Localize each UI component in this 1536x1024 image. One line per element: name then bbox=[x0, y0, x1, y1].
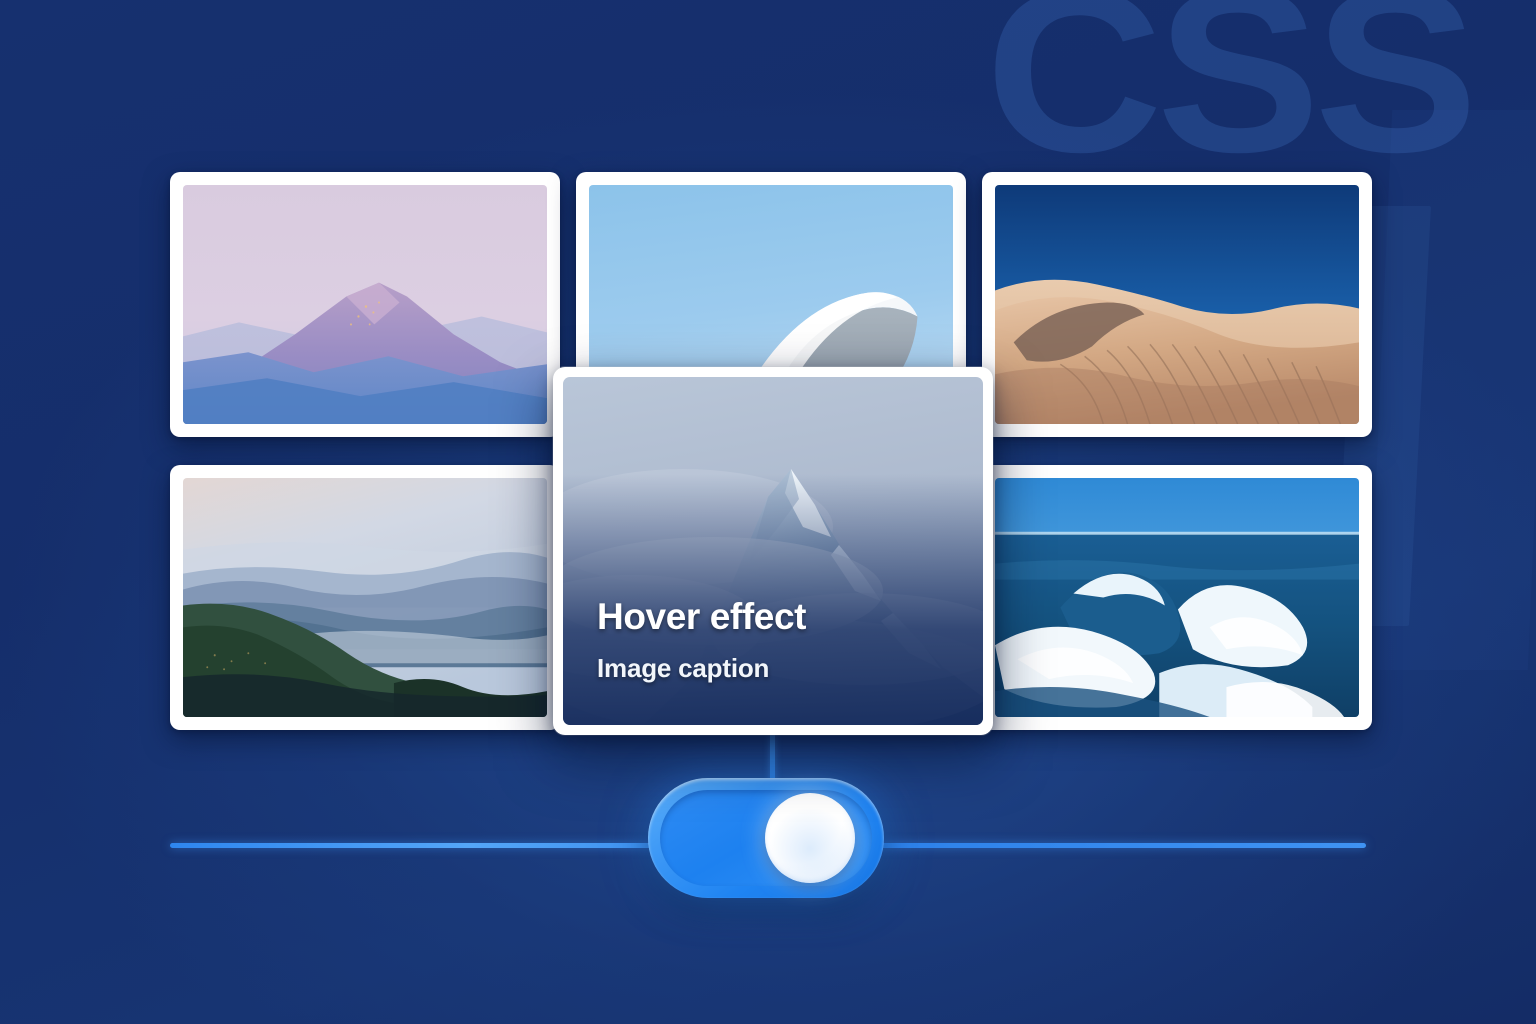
hovered-card-caption: Image caption bbox=[597, 655, 983, 681]
thumbnail-sunrise-mountain bbox=[183, 185, 547, 424]
hover-effect-toggle[interactable] bbox=[648, 778, 884, 898]
hovered-gallery-card[interactable]: Hover effect Image caption bbox=[553, 367, 993, 735]
gallery-card-sunrise-mountain[interactable] bbox=[170, 172, 560, 437]
gallery-card-desert-dunes[interactable] bbox=[982, 172, 1372, 437]
hovered-card-overlay: Hover effect Image caption bbox=[563, 474, 983, 725]
thumbnail-ocean-waves bbox=[995, 478, 1359, 717]
css-watermark: CSS bbox=[985, 0, 1472, 188]
hovered-card-image: Hover effect Image caption bbox=[563, 377, 983, 725]
gallery-card-misty-hills[interactable] bbox=[170, 465, 560, 730]
gallery-card-ocean-waves[interactable] bbox=[982, 465, 1372, 730]
thumbnail-desert-dunes bbox=[995, 185, 1359, 424]
thumbnail-misty-hills bbox=[183, 478, 547, 717]
toggle-knob[interactable] bbox=[765, 793, 855, 883]
scene-background: CSS bbox=[0, 0, 1536, 1024]
hovered-card-title: Hover effect bbox=[597, 598, 983, 635]
